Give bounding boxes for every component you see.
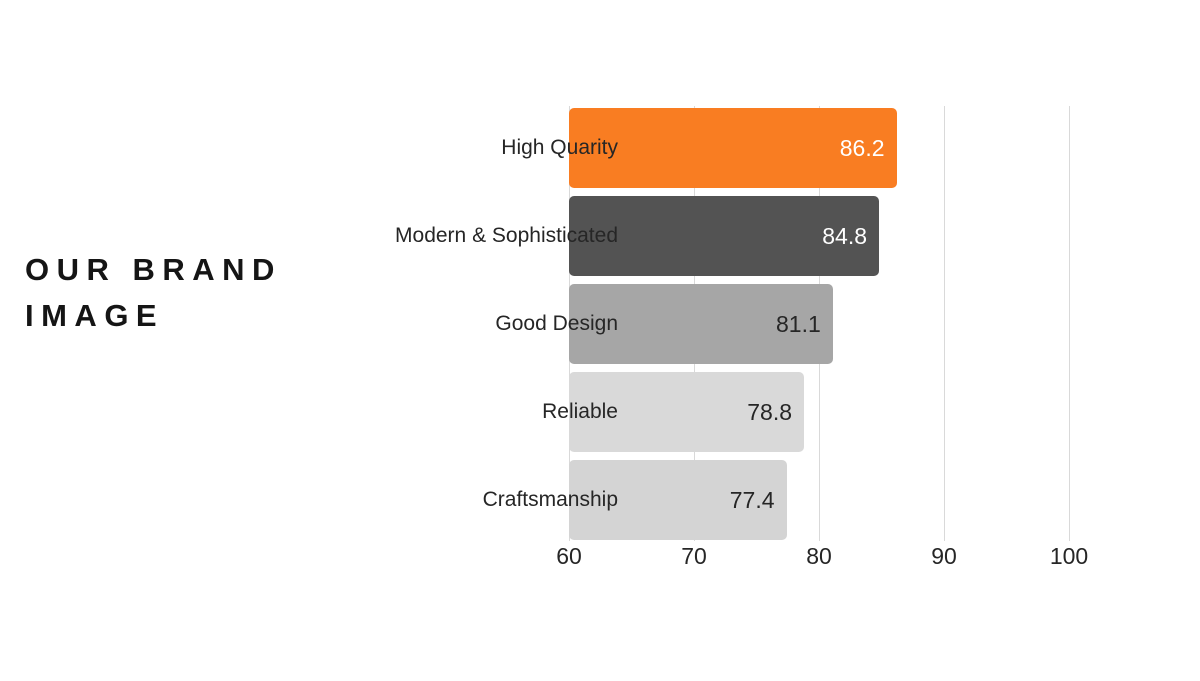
slide-canvas: OUR BRAND IMAGE 86.2High Quarity84.8Mode… xyxy=(0,0,1200,681)
category-label: Good Design xyxy=(495,284,618,364)
x-axis-tick-label: 70 xyxy=(681,543,707,570)
bar-value-label: 84.8 xyxy=(822,196,867,276)
bar-value-label: 78.8 xyxy=(747,372,792,452)
gridline-100 xyxy=(1069,106,1070,541)
bar-chart: 86.2High Quarity84.8Modern & Sophisticat… xyxy=(0,0,1200,681)
x-axis-tick-label: 100 xyxy=(1050,543,1088,570)
bar-value-label: 81.1 xyxy=(776,284,821,364)
category-label: Reliable xyxy=(542,372,618,452)
category-label: Modern & Sophisticated xyxy=(395,196,618,276)
x-axis-tick-label: 60 xyxy=(556,543,582,570)
bar-row[interactable]: 86.2 xyxy=(569,108,897,188)
gridline-90 xyxy=(944,106,945,541)
category-label: High Quarity xyxy=(501,108,618,188)
x-axis-tick-label: 90 xyxy=(931,543,957,570)
bar-value-label: 77.4 xyxy=(730,460,775,540)
bar-value-label: 86.2 xyxy=(840,108,885,188)
x-axis-tick-label: 80 xyxy=(806,543,832,570)
category-label: Craftsmanship xyxy=(483,460,618,540)
